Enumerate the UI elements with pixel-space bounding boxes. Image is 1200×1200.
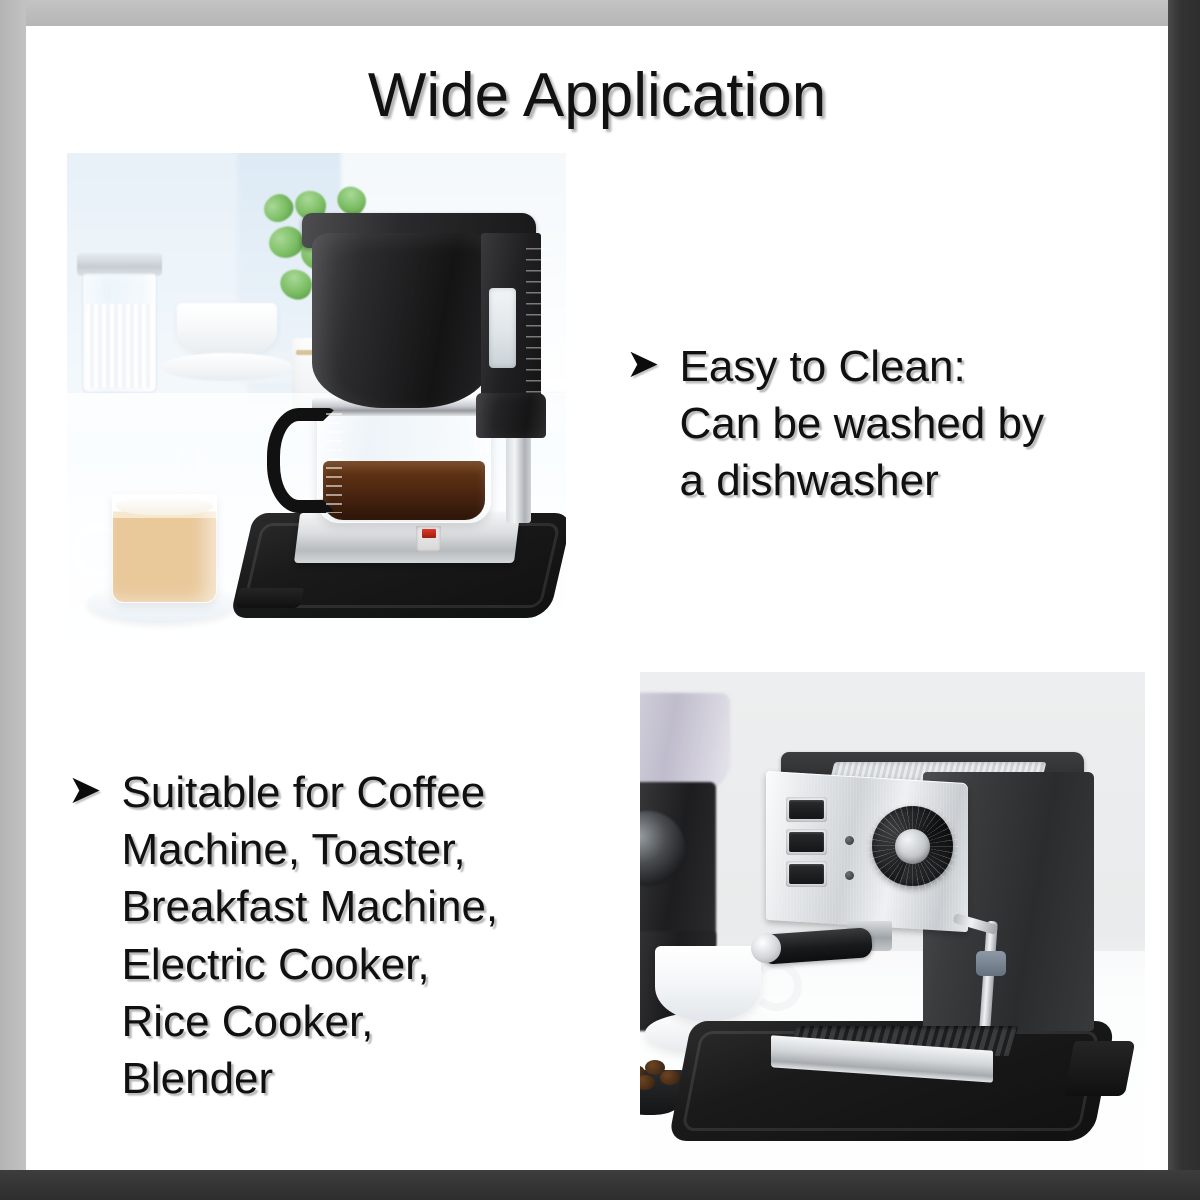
- jar-contents: [86, 304, 153, 389]
- silicone-mat-pull-tab: [1064, 1041, 1135, 1096]
- bullet-easy-to-clean: ➤ Easy to Clean: Can be washed by a dish…: [626, 338, 1166, 510]
- steam-wisp: [197, 398, 200, 493]
- bullet-easy-to-clean-text: Easy to Clean: Can be washed by a dishwa…: [680, 338, 1130, 510]
- page-title: Wide Application: [26, 60, 1168, 131]
- infographic-canvas: Wide Application: [26, 26, 1168, 1170]
- arrow-bullet-icon: ➤: [68, 770, 102, 810]
- kitchen-scene-b: [640, 672, 1145, 1170]
- brewed-coffee: [323, 461, 485, 520]
- silicone-mat-pull-tab: [234, 588, 303, 608]
- white-cup: [655, 946, 761, 1021]
- steam-wisp: [177, 413, 180, 493]
- kitchen-scene-a: [67, 153, 566, 653]
- milk-foam: [116, 497, 213, 514]
- power-rocker-switch[interactable]: [786, 797, 826, 823]
- carafe-level-ticks: [326, 413, 342, 513]
- bullet-suitable-for-text: Suitable for Coffee Machine, Toaster, Br…: [122, 764, 632, 1107]
- photo-coffee-maker: [67, 153, 566, 653]
- function-dial-knob[interactable]: [895, 829, 930, 864]
- indicator-led: [845, 836, 854, 845]
- glass-jar: [82, 273, 157, 393]
- water-level-window: [489, 288, 516, 368]
- frame-right-edge: [1168, 0, 1200, 1200]
- bullet-suitable-for: ➤ Suitable for Coffee Machine, Toaster, …: [68, 764, 668, 1107]
- frame-bottom-edge: [0, 1170, 1200, 1200]
- glass-carafe: [317, 403, 492, 523]
- power-switch[interactable]: [416, 526, 441, 552]
- white-saucer: [162, 353, 292, 381]
- latte-mug: [112, 493, 217, 603]
- frame-top-edge: [0, 0, 1200, 26]
- photo-espresso-machine: [640, 672, 1145, 1170]
- white-bowl: [177, 303, 277, 358]
- steam-rocker-switch[interactable]: [786, 861, 826, 887]
- coffee-rocker-switch[interactable]: [786, 829, 826, 855]
- water-level-scale: [526, 248, 548, 398]
- indicator-led: [845, 871, 854, 880]
- filter-basket-housing: [312, 233, 492, 408]
- coffee-maker-neck: [476, 393, 546, 438]
- frame-left-edge: [0, 0, 26, 1200]
- arrow-bullet-icon: ➤: [626, 344, 660, 384]
- steam-wand-grip[interactable]: [976, 951, 1006, 976]
